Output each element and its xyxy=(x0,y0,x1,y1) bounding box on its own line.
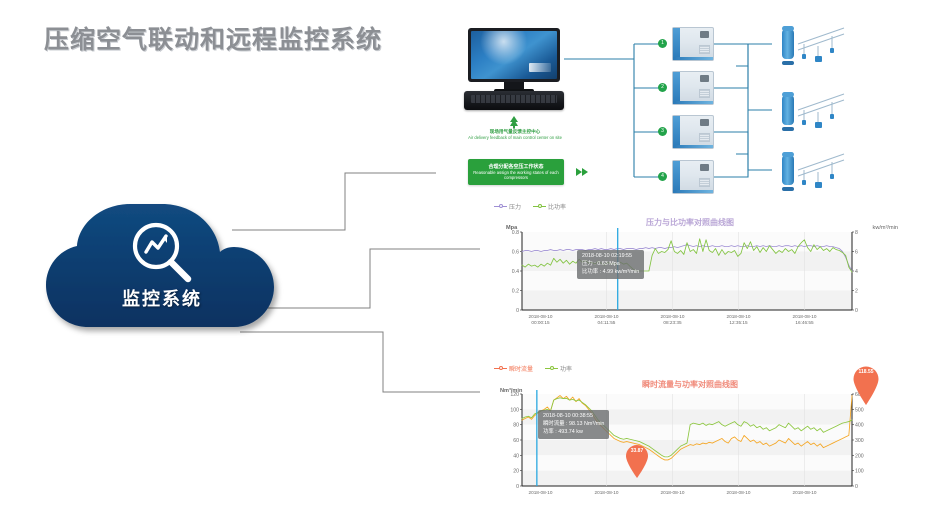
svg-text:2018-08-10: 2018-08-10 xyxy=(792,314,816,319)
compressor-unit xyxy=(672,27,714,61)
svg-text:300: 300 xyxy=(855,438,864,444)
slide-canvas: 压缩空气联动和远程监控系统 xyxy=(0,0,945,529)
assign-status-box: 合理分配各空压工作状态 Reasonable assign the workin… xyxy=(468,159,564,185)
monitor-stand xyxy=(504,82,524,89)
high-marker[interactable]: 118.55 xyxy=(851,365,881,405)
compressor-unit xyxy=(672,71,714,105)
svg-text:0.2: 0.2 xyxy=(512,289,519,295)
keyboard xyxy=(464,91,564,110)
node-dot-4: 4 xyxy=(658,172,667,181)
svg-text:2018-08-10: 2018-08-10 xyxy=(792,490,816,495)
svg-text:2018-08-10: 2018-08-10 xyxy=(528,490,552,495)
svg-text:0: 0 xyxy=(516,308,519,314)
svg-text:2018-08-10: 2018-08-10 xyxy=(726,314,750,319)
svg-text:0: 0 xyxy=(855,308,858,314)
compressor-unit xyxy=(672,160,714,194)
monitor-screen xyxy=(468,28,560,82)
svg-text:2018-08-10: 2018-08-10 xyxy=(660,490,684,495)
page-title: 压缩空气联动和远程监控系统 xyxy=(44,20,382,56)
node-dot-2: 2 xyxy=(658,83,667,92)
cloud-label: 监控系统 xyxy=(36,285,288,311)
svg-text:16:46:55: 16:46:55 xyxy=(795,320,814,325)
svg-text:400: 400 xyxy=(855,423,864,429)
pressure-chart[interactable]: 压力 比功率 压力与比功率对照曲线图 Mpa kw/m³/min 00.20.4… xyxy=(480,200,900,335)
svg-text:0.8: 0.8 xyxy=(512,230,519,236)
svg-text:04:11:55: 04:11:55 xyxy=(598,320,616,325)
pressure-plot-area[interactable]: 00.20.40.60.8024682018-08-1000:00:152018… xyxy=(480,200,900,335)
svg-text:2018-08-10: 2018-08-10 xyxy=(594,314,618,319)
flow-chart[interactable]: 瞬时流量 功率 瞬时流量与功率对照曲线图 Nm³/min 02040608010… xyxy=(480,362,900,512)
svg-text:2018-08-10: 2018-08-10 xyxy=(726,490,750,495)
air-tank-unit xyxy=(782,26,852,64)
svg-text:4: 4 xyxy=(855,269,858,275)
arrow-right-icon xyxy=(575,165,589,179)
arrow-up-icon xyxy=(507,115,521,129)
svg-text:0: 0 xyxy=(516,484,519,490)
svg-text:20: 20 xyxy=(513,469,519,475)
tooltip-timestamp: 2018-08-10 00:38:55 xyxy=(543,413,604,421)
svg-text:80: 80 xyxy=(513,423,519,429)
svg-text:200: 200 xyxy=(855,453,864,459)
assign-status-en: Reasonable assign the working states of … xyxy=(468,170,564,181)
tooltip-row-flow: 瞬时流量 : 98.13 Nm³/min xyxy=(543,421,604,429)
svg-text:100: 100 xyxy=(855,469,864,475)
svg-text:60: 60 xyxy=(513,438,519,444)
low-marker-label: 33.87 xyxy=(624,448,650,454)
svg-text:2018-08-10: 2018-08-10 xyxy=(528,314,552,319)
magnifier-chart-icon xyxy=(120,218,204,288)
node-dot-3: 3 xyxy=(658,127,667,136)
monitor xyxy=(464,28,564,110)
svg-text:2: 2 xyxy=(855,289,858,295)
tooltip-row-power: 功率 : 493.74 kw xyxy=(543,429,604,437)
compressor-unit xyxy=(672,115,714,149)
svg-text:40: 40 xyxy=(513,453,519,459)
air-tank-unit xyxy=(782,92,852,130)
svg-text:2018-08-10: 2018-08-10 xyxy=(660,314,684,319)
svg-text:8: 8 xyxy=(855,230,858,236)
tooltip-timestamp: 2018-08-10 02:19:55 xyxy=(582,253,639,261)
svg-text:0.4: 0.4 xyxy=(512,269,519,275)
svg-text:2018-08-10: 2018-08-10 xyxy=(594,490,618,495)
pressure-chart-tooltip: 2018-08-10 02:19:55 压力 : 0.63 Mpa 比功率 : … xyxy=(577,250,644,279)
svg-text:0: 0 xyxy=(855,484,858,490)
tooltip-row-pressure: 压力 : 0.63 Mpa xyxy=(582,261,639,269)
svg-text:00:00:15: 00:00:15 xyxy=(531,320,550,325)
svg-text:12:35:15: 12:35:15 xyxy=(729,320,748,325)
node-dot-1: 1 xyxy=(658,39,667,48)
tooltip-row-specific-power: 比功率 : 4.99 kw/m³/min xyxy=(582,269,639,277)
svg-text:08:23:35: 08:23:35 xyxy=(663,320,682,325)
svg-text:0.6: 0.6 xyxy=(512,250,519,256)
svg-text:120: 120 xyxy=(510,392,519,398)
svg-text:500: 500 xyxy=(855,407,864,413)
high-marker-label: 118.55 xyxy=(851,369,881,375)
flow-chart-tooltip: 2018-08-10 00:38:55 瞬时流量 : 98.13 Nm³/min… xyxy=(538,410,609,439)
low-marker[interactable]: 33.87 xyxy=(624,444,650,478)
svg-text:6: 6 xyxy=(855,250,858,256)
monitor-caption-en: Air delivery feedback of main control ce… xyxy=(456,135,574,140)
svg-text:100: 100 xyxy=(510,407,519,413)
monitor-caption: 现场用气量反馈主控中心 Air delivery feedback of mai… xyxy=(456,129,574,140)
air-tank-unit xyxy=(782,152,852,190)
system-diagram: 现场用气量反馈主控中心 Air delivery feedback of mai… xyxy=(436,22,936,200)
